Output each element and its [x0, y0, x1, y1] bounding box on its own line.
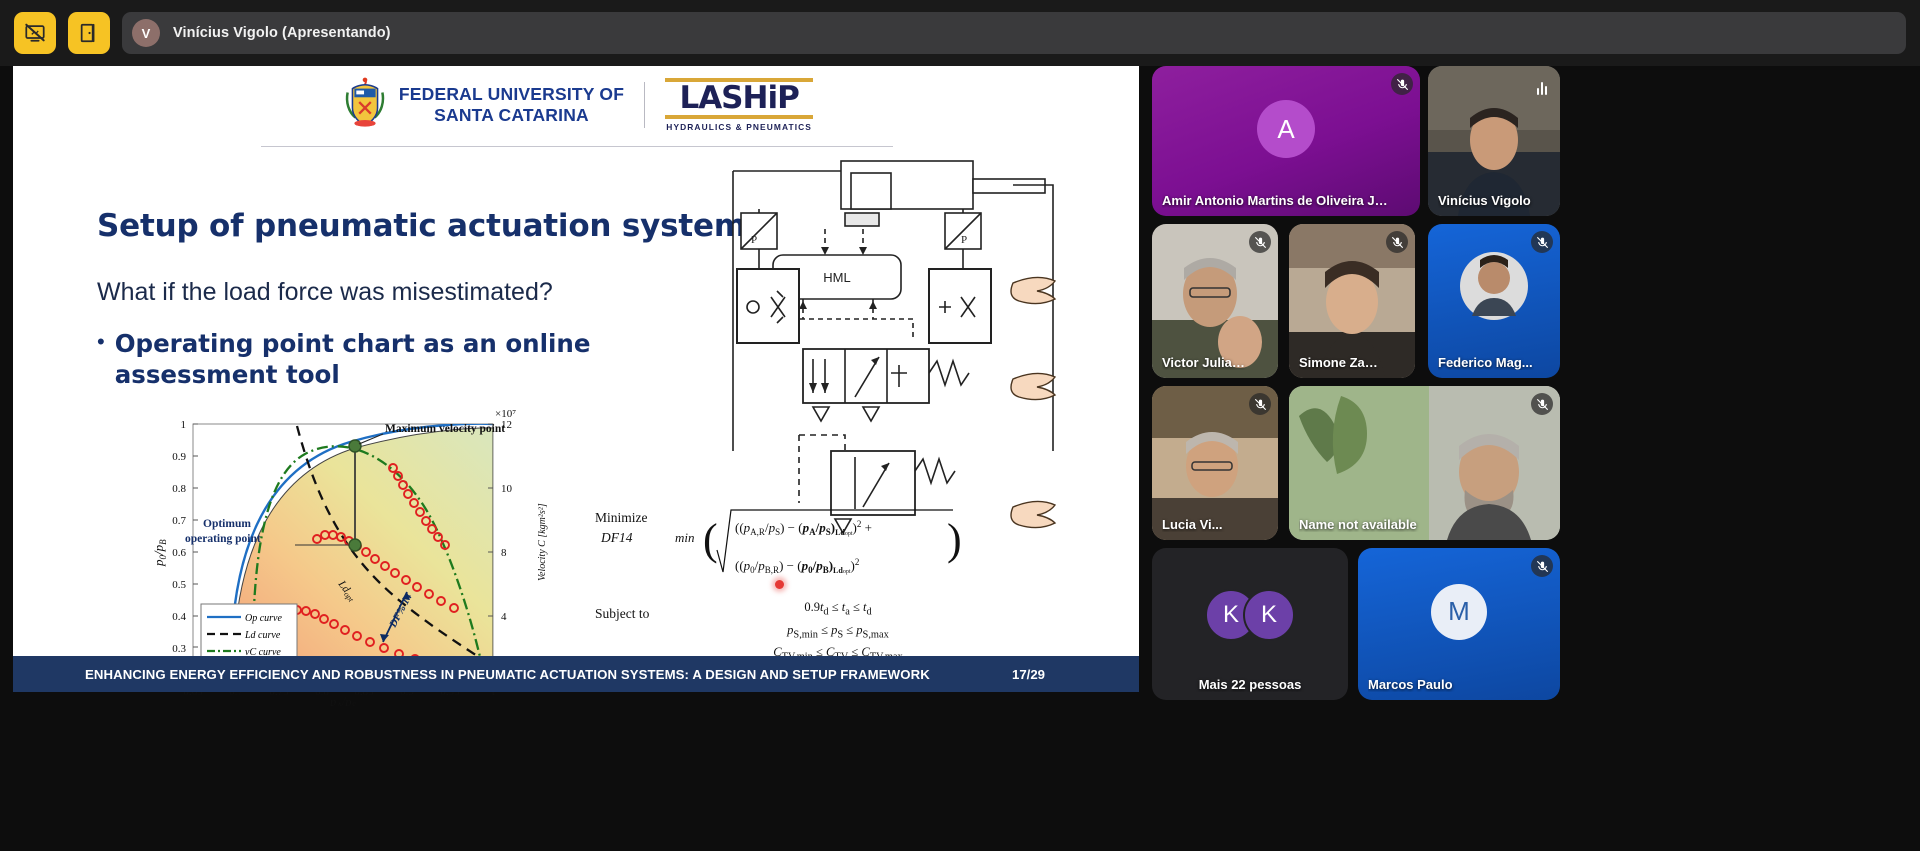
laship-wordmark: LASHiP	[665, 82, 813, 115]
overflow-label: Mais 22 pessoas	[1152, 677, 1348, 692]
participant-name: Victor Juliano ...	[1162, 355, 1252, 370]
y2-axis-label: Velocity C [kgm²s²]	[537, 503, 548, 581]
legend-label-1: Ld curve	[244, 630, 281, 641]
microphone-off-icon	[1254, 398, 1267, 411]
participant-name: Lucia Vi...	[1162, 517, 1252, 532]
svg-text:12: 12	[501, 419, 512, 431]
participant-tile-simone[interactable]: Simone Zambo...	[1289, 224, 1415, 378]
microphone-off-icon	[1536, 236, 1549, 249]
svg-text:1: 1	[181, 419, 187, 431]
hml-block-label: HML	[823, 270, 850, 285]
svg-text:0.7: 0.7	[172, 515, 186, 527]
min-operator: min	[675, 530, 695, 546]
exit-door-icon	[78, 22, 100, 44]
mute-badge	[1386, 231, 1408, 253]
annotation-maximum-velocity-point: Maximum velocity point	[385, 423, 505, 435]
annotation-optimum-line-1: Optimum	[203, 518, 251, 530]
presenter-status-bar[interactable]: V Vinícius Vigolo (Apresentando)	[122, 12, 1906, 54]
participant-name: Simone Zambo...	[1299, 355, 1389, 370]
mute-badge	[1249, 393, 1271, 415]
bullet-marker: •	[97, 328, 105, 391]
bullet-text: Operating point chart as an online asses…	[115, 328, 615, 391]
microphone-off-icon	[1396, 78, 1409, 91]
constraint-1: pS,min ≤ pS ≤ pS,max	[733, 621, 943, 644]
slide-title: Setup of pneumatic actuation systems	[97, 208, 764, 244]
logo-divider	[644, 82, 645, 128]
overflow-avatar-1: K	[1243, 589, 1295, 641]
avatar: A	[1257, 100, 1315, 158]
participant-tile-unnamed[interactable]: Name not available	[1289, 386, 1560, 540]
slide-bullet-item: • Operating point chart as an online ass…	[97, 328, 615, 391]
participant-name: Amir Antonio Martins de Oliveira Junior	[1162, 193, 1394, 208]
participant-name: Name not available	[1299, 517, 1534, 532]
slide-canvas: FEDERAL UNIVERSITY OF SANTA CATARINA LAS…	[13, 66, 1139, 656]
optimization-formulation: Minimize DF14 min ( ((pA,R/pS) − (pA/pS)…	[583, 484, 983, 664]
objective-name: DF14	[601, 530, 633, 546]
x-axis-label: pA/pS	[329, 695, 356, 706]
svg-text:0.6: 0.6	[172, 547, 186, 559]
participant-name: Vinícius Vigolo	[1438, 193, 1534, 208]
microphone-off-icon	[1536, 398, 1549, 411]
svg-text:0.4: 0.4	[172, 611, 186, 623]
header-divider	[261, 146, 893, 147]
optimum-operating-point-marker	[349, 539, 361, 551]
y-axis-label: p0/pB	[151, 539, 168, 567]
participant-tile-vinicius[interactable]: Vinícius Vigolo	[1428, 66, 1560, 216]
subject-to-label: Subject to	[595, 606, 649, 622]
screen-share-off-icon	[24, 22, 46, 44]
svg-text:): )	[947, 515, 962, 564]
microphone-off-icon	[1536, 560, 1549, 573]
chart-legend: Op curve Ld curve vC curve	[201, 604, 297, 662]
avatar: M	[1431, 584, 1487, 640]
participant-name: Federico Mag...	[1438, 355, 1534, 370]
minimize-label: Minimize	[595, 510, 648, 526]
mute-badge	[1249, 231, 1271, 253]
svg-text:0.9: 0.9	[172, 451, 186, 463]
ufsc-crest-icon	[339, 77, 391, 133]
participant-tile-federico[interactable]: Federico Mag...	[1428, 224, 1560, 378]
leave-meeting-button[interactable]	[68, 12, 110, 54]
meeting-toolbar: V Vinícius Vigolo (Apresentando)	[0, 0, 1920, 66]
maximum-velocity-point-marker	[349, 440, 361, 452]
presenter-label: Vinícius Vigolo (Apresentando)	[173, 25, 391, 41]
university-name: FEDERAL UNIVERSITY OF SANTA CATARINA	[399, 84, 624, 127]
microphone-off-icon	[1254, 236, 1267, 249]
stop-presenting-button[interactable]	[14, 12, 56, 54]
mute-badge	[1531, 393, 1553, 415]
presenter-laser-pointer	[775, 580, 784, 589]
university-line-1: FEDERAL UNIVERSITY OF	[399, 84, 624, 105]
mute-badge	[1391, 73, 1413, 95]
objective-function: ( ((pA,R/pS) − (pA/pS)Ldopt)2 + ((p0/pB,…	[701, 498, 966, 590]
speaking-indicator	[1531, 73, 1553, 95]
participant-tile-marcos[interactable]: M Marcos Paulo	[1358, 548, 1560, 700]
presenter-avatar: V	[132, 19, 160, 47]
participant-tile-victor[interactable]: Victor Juliano ...	[1152, 224, 1278, 378]
mute-badge	[1531, 555, 1553, 577]
sensor-p-right-label: P	[961, 234, 967, 246]
participant-name: Marcos Paulo	[1368, 677, 1534, 692]
svg-text:10: 10	[501, 483, 513, 495]
svg-text:8: 8	[501, 547, 507, 559]
y2-exponent: ×10⁷	[495, 408, 516, 420]
microphone-off-icon	[1391, 236, 1404, 249]
university-line-2: SANTA CATARINA	[399, 105, 624, 126]
presentation-stage[interactable]: FEDERAL UNIVERSITY OF SANTA CATARINA LAS…	[13, 66, 1139, 851]
slide-logo-row: FEDERAL UNIVERSITY OF SANTA CATARINA LAS…	[13, 66, 1139, 144]
overflow-avatars: K K	[1205, 589, 1295, 641]
svg-text:0.5: 0.5	[172, 579, 186, 591]
laship-subtitle: HYDRAULICS & PNEUMATICS	[665, 122, 813, 132]
legend-label-0: Op curve	[245, 613, 282, 624]
sensor-p-left-label: P	[751, 234, 757, 246]
participant-tile-lucia[interactable]: Lucia Vi...	[1152, 386, 1278, 540]
participant-tile-overflow[interactable]: K K Mais 22 pessoas	[1152, 548, 1348, 700]
slide-page-number: 17/29	[1012, 667, 1045, 682]
slide-question: What if the load force was misestimated?	[97, 278, 553, 307]
svg-text:((p0/pB,R) − (p0/pB)Ldopt)2: ((p0/pB,R) − (p0/pB)Ldopt)2	[735, 557, 859, 575]
annotation-optimum-line-2: operating point	[185, 533, 261, 545]
svg-text:(: (	[703, 515, 718, 564]
svg-text:0.3: 0.3	[172, 643, 186, 655]
participant-tile-amir[interactable]: A Amir Antonio Martins de Oliveira Junio…	[1152, 66, 1420, 216]
mute-badge	[1531, 231, 1553, 253]
svg-text:4: 4	[501, 611, 507, 623]
svg-text:((pA,R/pS) − (pA/pS)Ldopt)2 +: ((pA,R/pS) − (pA/pS)Ldopt)2 +	[735, 519, 872, 537]
constraint-0: 0.9td ≤ ta ≤ td	[733, 598, 943, 621]
operating-point-chart: Maximum velocity point Optimum operating…	[145, 406, 575, 646]
slide-footer-banner: ENHANCING ENERGY EFFICIENCY AND ROBUSTNE…	[13, 656, 1139, 692]
slide-footer-title: ENHANCING ENERGY EFFICIENCY AND ROBUSTNE…	[85, 667, 930, 682]
laship-logo: LASHiP HYDRAULICS & PNEUMATICS	[665, 78, 813, 132]
svg-text:0.8: 0.8	[172, 483, 186, 495]
